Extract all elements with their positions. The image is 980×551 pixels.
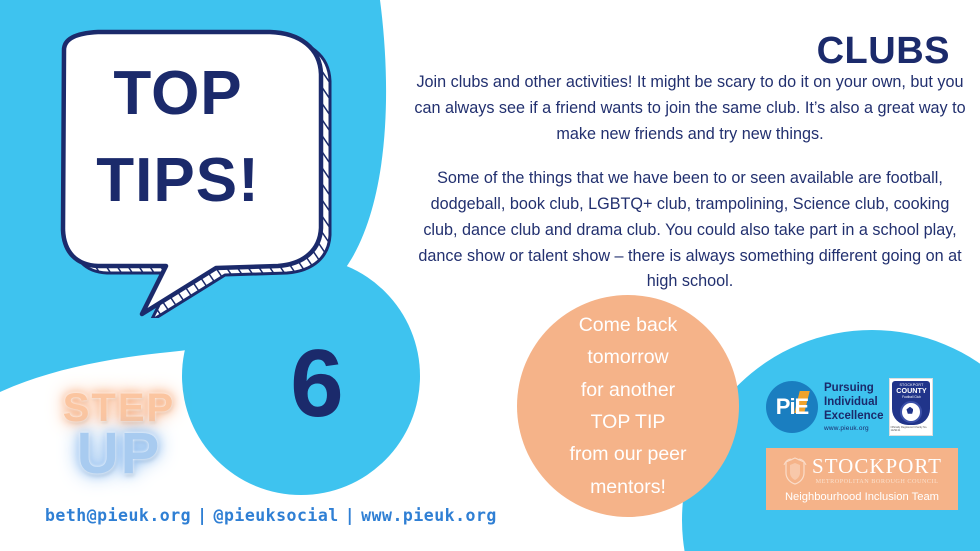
callout-line-3: for another [581,374,675,406]
poster-canvas: TOP TIPS! 6 CLUBS Join clubs and other a… [0,0,980,551]
county-line-3: Football Club [902,395,921,399]
callout-line-1: Come back [579,309,678,341]
pie-logo: PiE Pursuing Individual Excellence www.p… [766,381,883,434]
step-up-logo-bottom-word: UP [34,420,204,487]
pie-tagline-line-2: Individual [824,395,883,409]
body-copy: Join clubs and other activities! It migh… [412,70,968,295]
body-paragraph-2: Some of the things that we have been to … [412,166,968,296]
stockport-county-shield-icon: STOCKPORT COUNTY Football Club [892,381,930,425]
callout-line-4: TOP TIP [591,406,666,438]
pie-tagline-line-1: Pursuing [824,381,883,395]
partner-logos-top-row: PiE Pursuing Individual Excellence www.p… [766,372,958,442]
contact-website[interactable]: www.pieuk.org [361,506,497,525]
step-up-logo: STEP UP [34,386,204,486]
contact-social-handle[interactable]: @pieuksocial [214,506,339,525]
body-paragraph-1: Join clubs and other activities! It migh… [412,70,968,148]
stockport-council-lockup: STOCKPORT METROPOLITAN BOROUGH COUNCIL [782,456,942,486]
contact-email[interactable]: beth@pieuk.org [45,506,191,525]
contact-separator-1: | [191,506,213,525]
contact-footer: beth@pieuk.org|@pieuksocial|www.pieuk.or… [45,506,497,525]
stockport-council-name: STOCKPORT [812,456,942,477]
tip-number-badge: 6 [182,258,420,494]
pie-logo-tagline: Pursuing Individual Excellence www.pieuk… [824,381,883,434]
county-line-2: COUNTY [896,387,926,394]
partner-logos: PiE Pursuing Individual Excellence www.p… [766,372,958,512]
page-title: CLUBS [817,30,950,73]
stockport-council-team: Neighbourhood Inclusion Team [785,491,939,503]
pie-tagline-line-3: Excellence [824,409,883,423]
callout-line-6: mentors! [590,471,666,503]
contact-separator-2: | [339,506,361,525]
pie-logo-letters: PiE [776,394,808,420]
callout-line-2: tomorrow [587,341,668,373]
stockport-crest-icon [782,456,808,486]
stockport-council-subtitle: METROPOLITAN BOROUGH COUNCIL [812,478,942,485]
stockport-county-badge: STOCKPORT COUNTY Football Club Officiall… [889,378,933,436]
stockport-council-logo: STOCKPORT METROPOLITAN BOROUGH COUNCIL N… [766,448,958,510]
tip-number: 6 [290,329,343,439]
football-icon [900,401,922,423]
county-fine-print: Officially Registered Charity No. 112913… [890,426,932,432]
stockport-council-wordmark: STOCKPORT METROPOLITAN BOROUGH COUNCIL [812,456,942,485]
pie-logo-url: www.pieuk.org [824,425,883,433]
callout-line-5: from our peer [569,438,686,470]
pie-logo-mark: PiE [766,381,818,433]
callout-circle: Come back tomorrow for another TOP TIP f… [517,295,739,517]
